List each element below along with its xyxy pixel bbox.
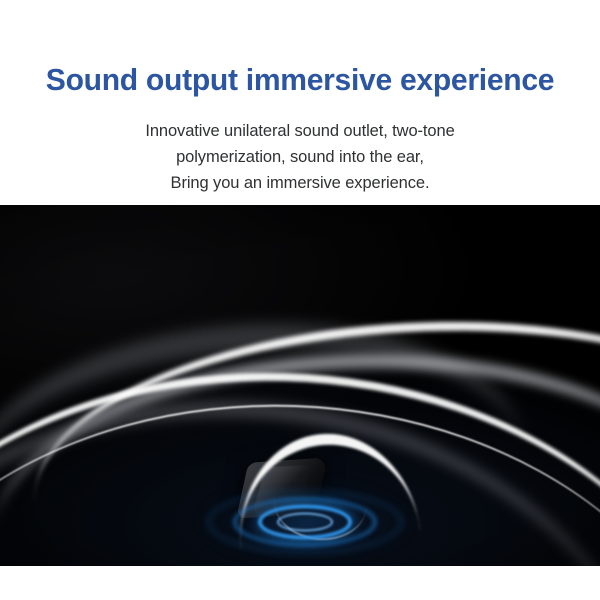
description-line-2: polymerization, sound into the ear, (0, 144, 600, 170)
ripple-ring-core (277, 513, 333, 532)
description-line-3: Bring you an immersive experience. (0, 170, 600, 196)
description-block: Innovative unilateral sound outlet, two-… (0, 118, 600, 196)
description-line-1: Innovative unilateral sound outlet, two-… (0, 118, 600, 144)
footer-strip (0, 566, 600, 600)
product-feature-page: Sound output immersive experience Innova… (0, 0, 600, 600)
product-image-panel (0, 205, 600, 566)
header-section: Sound output immersive experience Innova… (0, 0, 600, 205)
page-title: Sound output immersive experience (9, 62, 591, 98)
